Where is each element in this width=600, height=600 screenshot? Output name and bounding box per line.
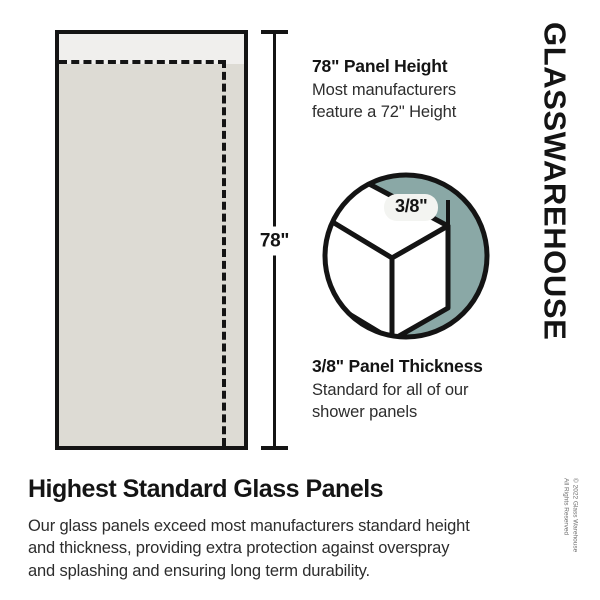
- summary-paragraph: Our glass panels exceed most manufacture…: [28, 515, 524, 583]
- callout-panel-height-body: Most manufacturers feature a 72" Height: [312, 80, 542, 124]
- summary-block: Highest Standard Glass Panels Our glass …: [28, 476, 524, 583]
- callout-panel-height: 78" Panel Height Most manufacturers feat…: [312, 56, 542, 124]
- callout-panel-thickness-title: 3/8" Panel Thickness: [312, 356, 542, 377]
- dimension-tick-bottom: [261, 446, 288, 450]
- infographic-canvas: 78" 78" Panel Height Most manufacturers …: [0, 0, 600, 600]
- panel-thickness-diagram: 3/8": [320, 170, 492, 342]
- callout-panel-thickness-body: Standard for all of our shower panels: [312, 380, 542, 424]
- summary-paragraph-line-1: Our glass panels exceed most manufacture…: [28, 517, 470, 535]
- summary-heading: Highest Standard Glass Panels: [28, 476, 524, 504]
- summary-paragraph-line-2: and thickness, providing extra protectio…: [28, 539, 449, 557]
- copyright-notice-text: © 2022 Glass Warehouse All Rights Reserv…: [561, 478, 580, 552]
- copyright-notice: © 2022 Glass Warehouse All Rights Reserv…: [553, 478, 587, 578]
- standard-height-dashed-outline: [59, 60, 226, 446]
- callout-panel-height-body-line-1: Most manufacturers: [312, 81, 456, 99]
- summary-paragraph-line-3: and splashing and ensuring long term dur…: [28, 562, 370, 580]
- height-dimension-line: 78": [273, 30, 276, 450]
- callout-panel-thickness-body-line-1: Standard for all of our: [312, 381, 468, 399]
- callout-panel-thickness: 3/8" Panel Thickness Standard for all of…: [312, 356, 542, 424]
- callout-panel-height-title: 78" Panel Height: [312, 56, 542, 77]
- copyright-line-1: © 2022 Glass Warehouse: [571, 478, 578, 552]
- brand-wordmark: GLASSWAREHOUSE: [520, 22, 590, 352]
- glass-panel-illustration: [55, 30, 248, 450]
- brand-wordmark-text: GLASSWAREHOUSE: [540, 22, 571, 340]
- dimension-tick-top: [261, 30, 288, 34]
- height-dimension-label: 78": [257, 227, 292, 256]
- callout-panel-height-body-line-2: feature a 72" Height: [312, 103, 456, 121]
- copyright-line-2: All Rights Reserved: [562, 478, 569, 535]
- thickness-diagram-label: 3/8": [384, 194, 438, 221]
- callout-panel-thickness-body-line-2: shower panels: [312, 403, 417, 421]
